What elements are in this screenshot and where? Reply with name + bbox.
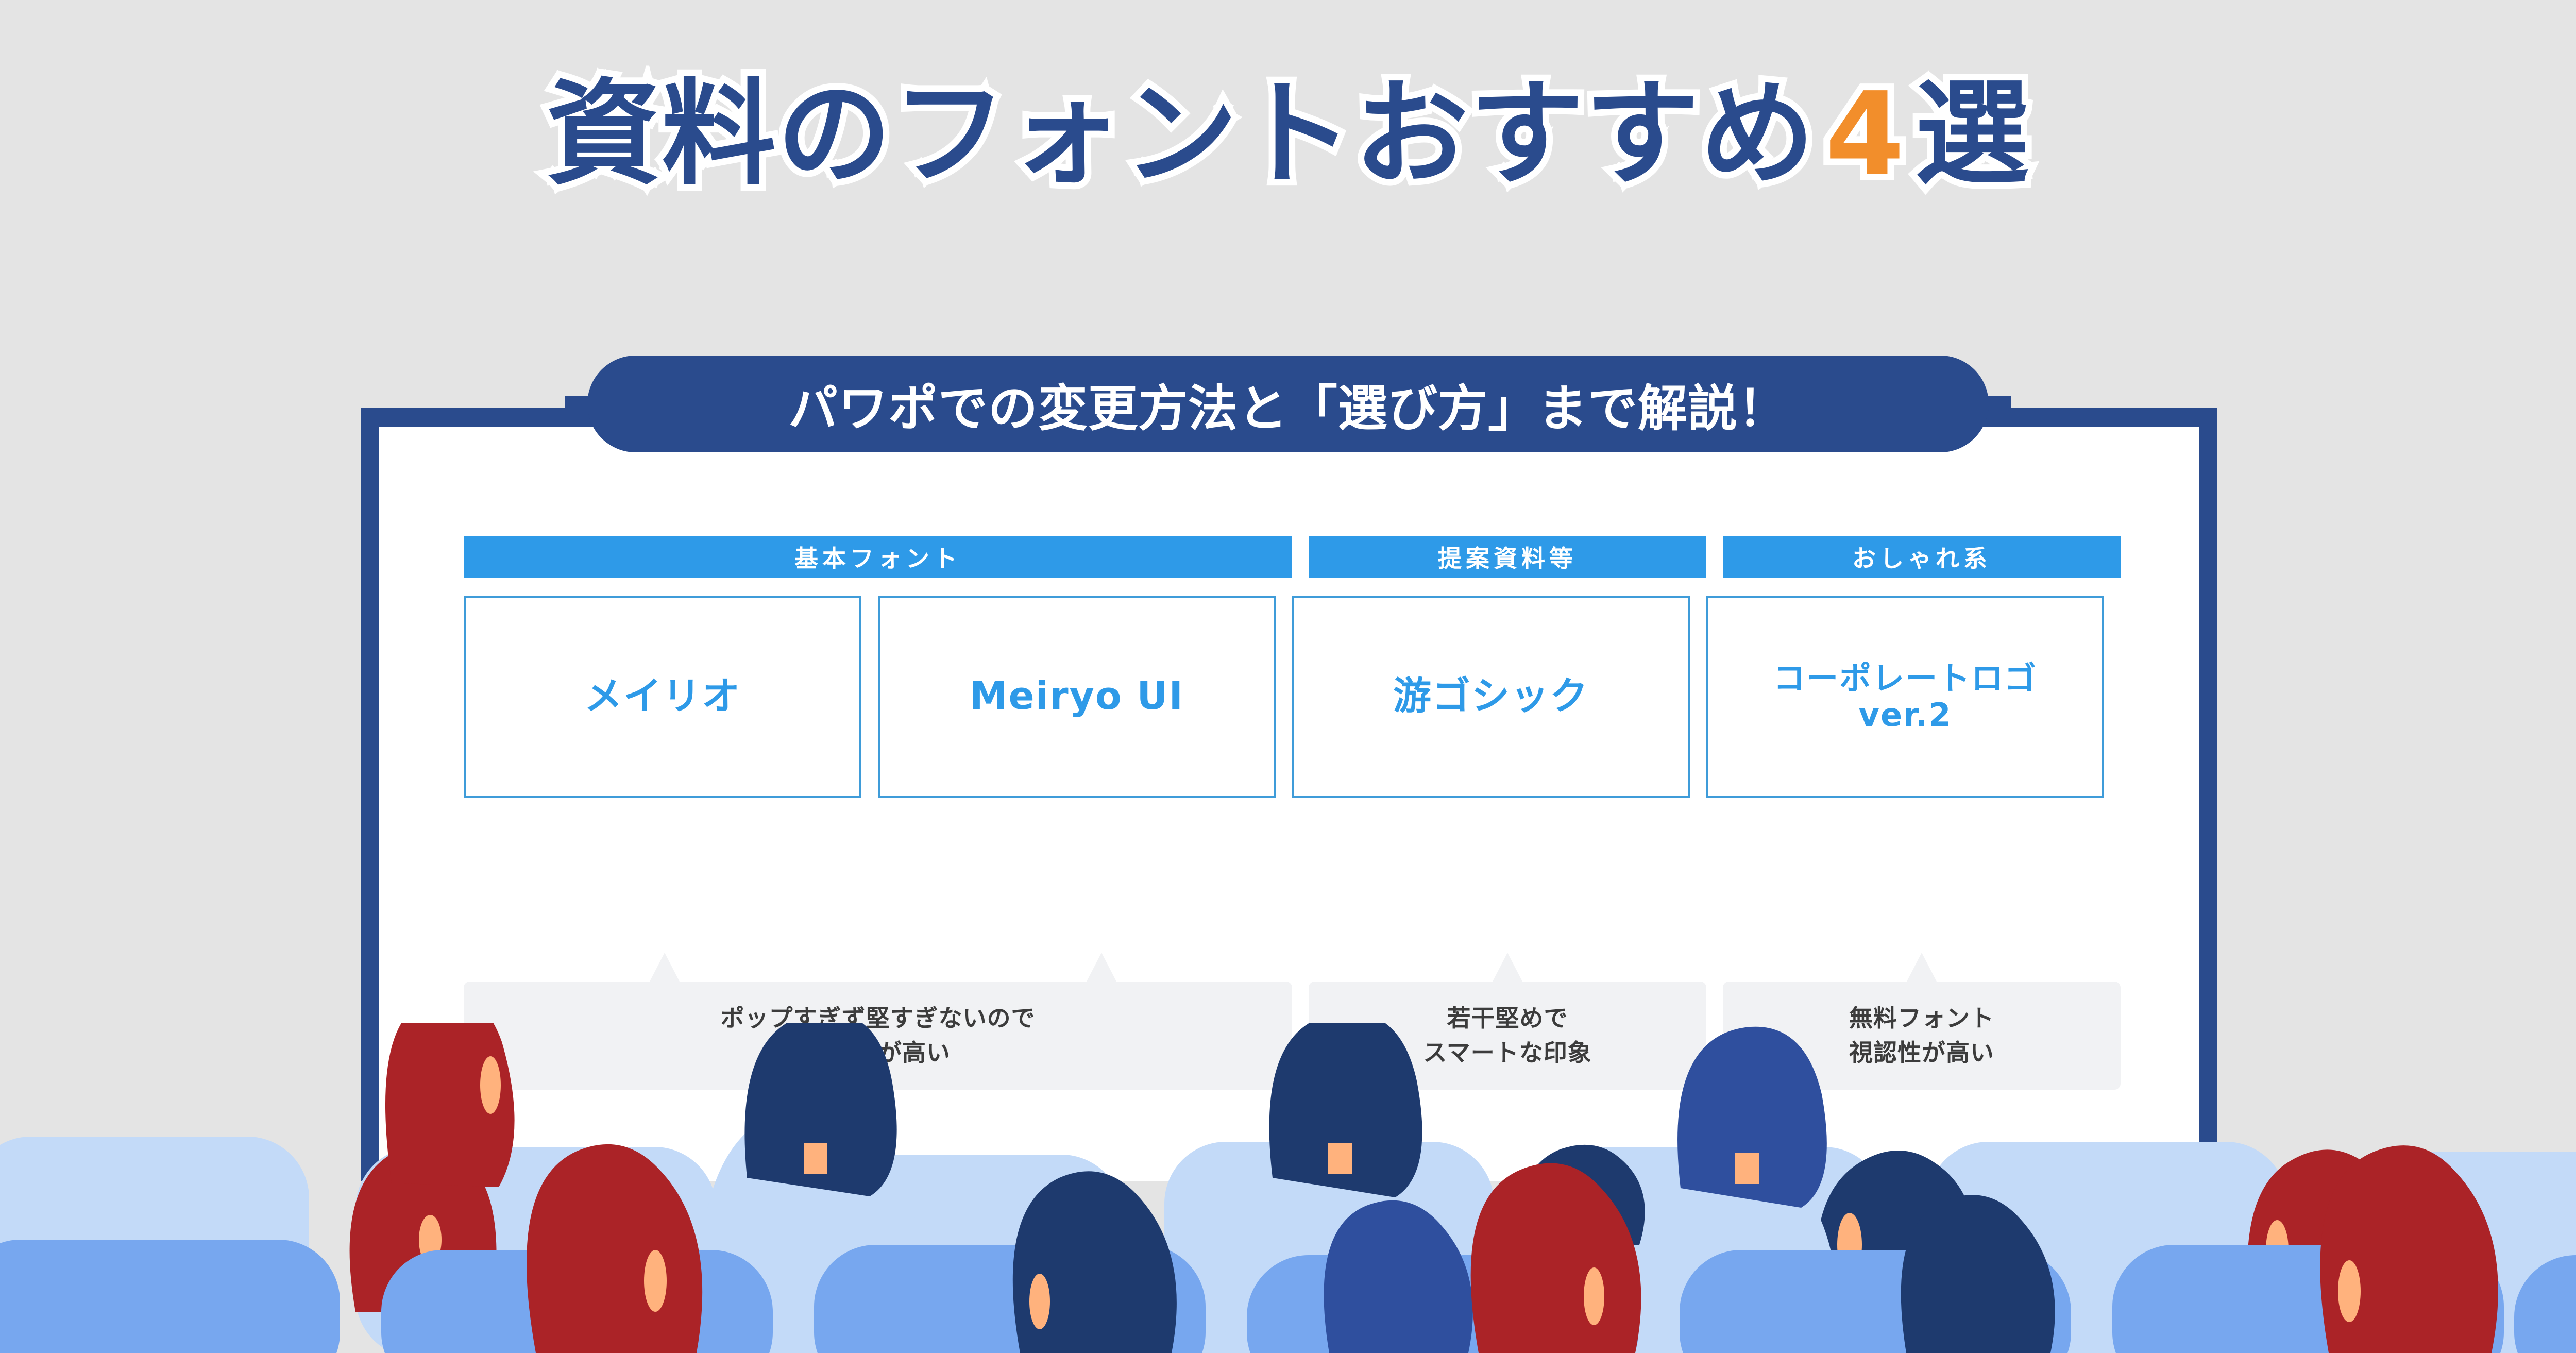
font-card-meiryo-ui: Meiryo UI	[878, 596, 1276, 798]
category-header-stylish-label: おしゃれ系	[1852, 540, 1991, 574]
category-header-row: 基本フォント 提案資料等 おしゃれ系	[464, 536, 2114, 578]
title-count-number: 4	[1816, 68, 1914, 201]
page-title: 資料のフォントおすすめ4選	[0, 77, 2576, 192]
subtitle-ribbon: パワポでの変更方法と「選び方」まで解説！	[587, 356, 1989, 452]
category-header-stylish: おしゃれ系	[1723, 536, 2121, 578]
audience-svg	[0, 1023, 2576, 1353]
font-card-corporate-logo-line1: コーポレートロゴ	[1773, 659, 2037, 697]
caption-tail-icon	[1086, 953, 1117, 983]
audience-illustration	[0, 1023, 2576, 1353]
poster-canvas: 資料のフォントおすすめ4選 パワポでの変更方法と「選び方」まで解説！ 基本フォン…	[0, 0, 2576, 1353]
category-header-basic: 基本フォント	[464, 536, 1292, 578]
subtitle-text: パワポでの変更方法と「選び方」まで解説！	[788, 368, 1788, 440]
audience-person-tall-red	[385, 1023, 515, 1187]
ribbon-body: パワポでの変更方法と「選び方」まで解説！	[587, 356, 1989, 452]
font-card-corporate-logo: コーポレートロゴ ver.2	[1706, 596, 2104, 798]
font-card-meiryo-ui-label: Meiryo UI	[970, 674, 1184, 718]
title-suffix-text: 選	[1915, 68, 2030, 201]
caption-tail-icon	[1492, 953, 1523, 983]
font-card-yu-gothic-label: 游ゴシック	[1393, 674, 1589, 718]
caption-tail-icon	[1906, 953, 1937, 983]
font-card-meiryo-label: メイリオ	[584, 674, 741, 718]
title-main-text: 資料のフォントおすすめ	[546, 68, 1816, 201]
font-comparison-grid: 基本フォント 提案資料等 おしゃれ系 メイリオ Meiryo UI 游ゴシック …	[464, 536, 2114, 798]
font-card-corporate-logo-label: コーポレートロゴ ver.2	[1773, 660, 2037, 734]
font-card-yu-gothic: 游ゴシック	[1292, 596, 1690, 798]
category-header-basic-label: 基本フォント	[794, 540, 961, 574]
category-header-proposal: 提案資料等	[1309, 536, 1706, 578]
caption-tail-icon	[649, 953, 680, 983]
audience-person-frontmost-2	[1013, 1171, 1177, 1353]
font-card-corporate-logo-line2: ver.2	[1859, 696, 1952, 734]
font-card-row: メイリオ Meiryo UI 游ゴシック コーポレートロゴ ver.2	[464, 596, 2114, 798]
category-header-proposal-label: 提案資料等	[1438, 540, 1577, 574]
font-card-meiryo: メイリオ	[464, 596, 861, 798]
